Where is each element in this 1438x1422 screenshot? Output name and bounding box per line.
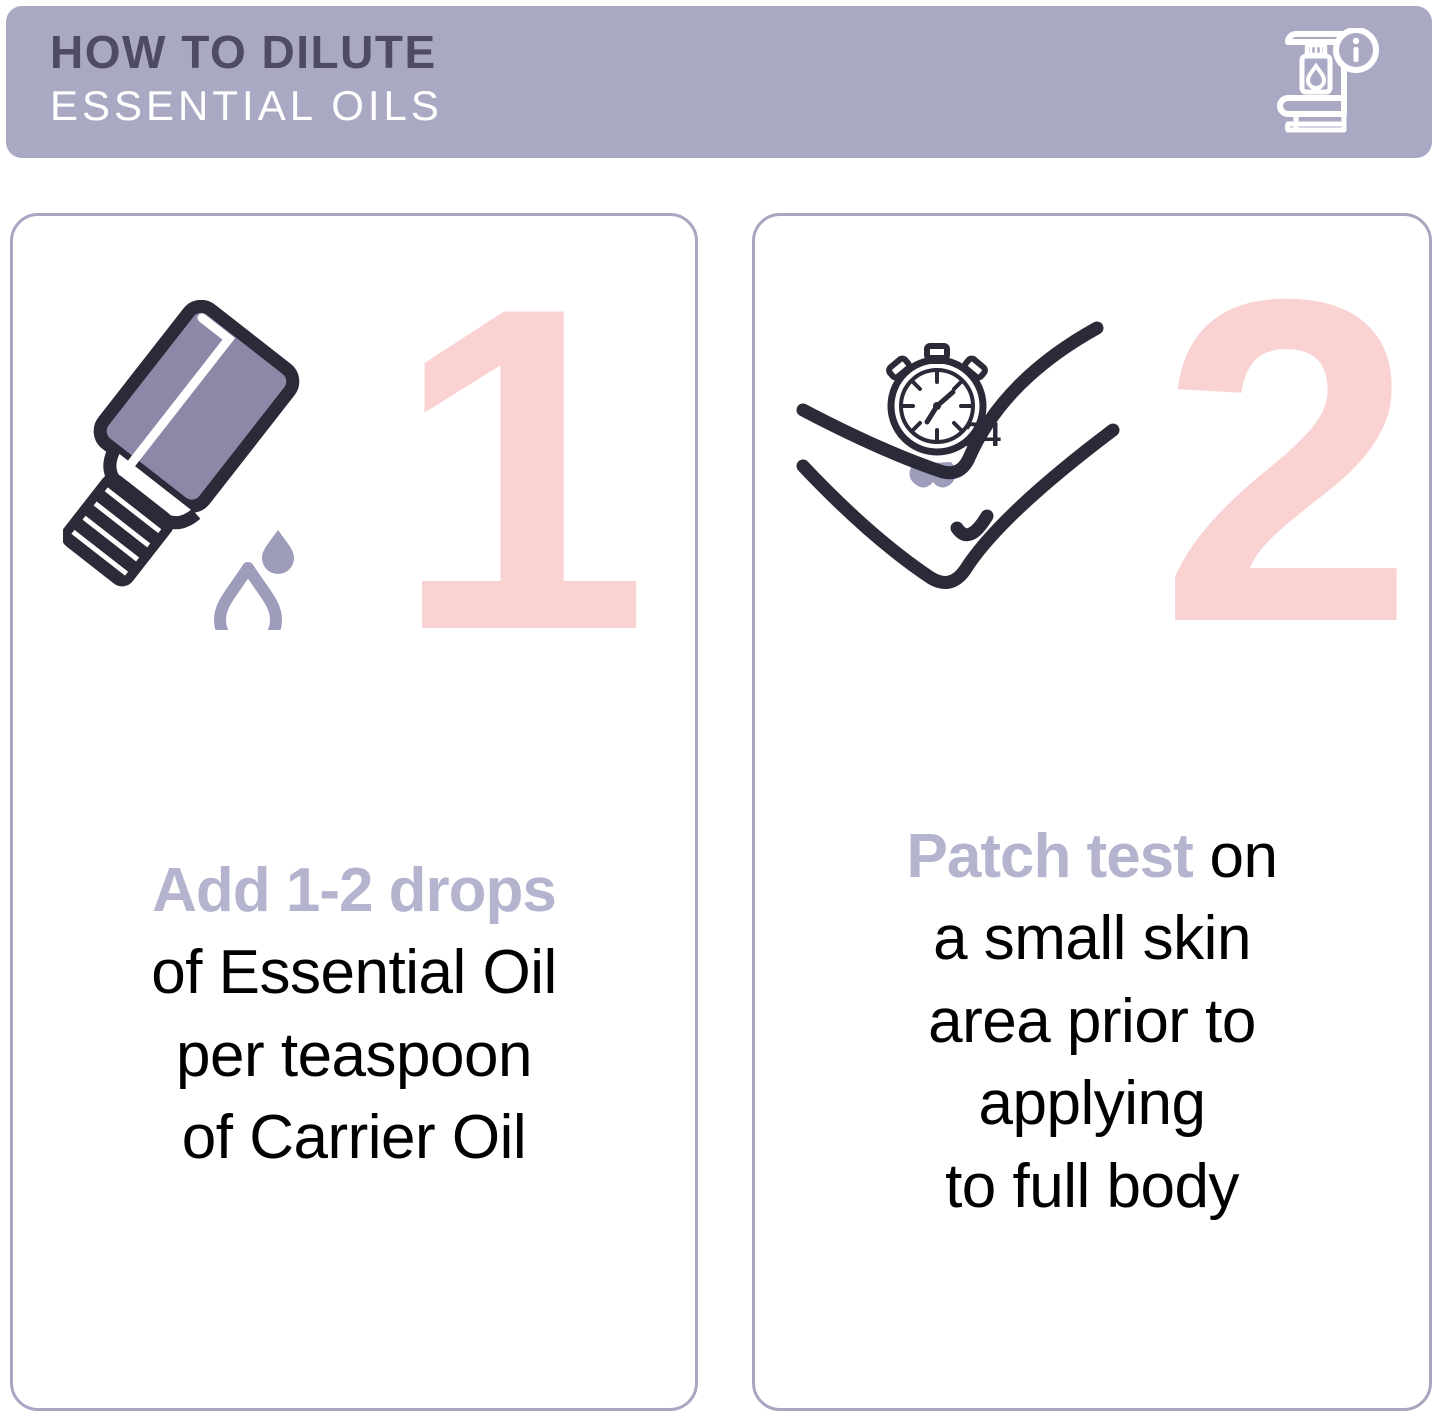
oil-bottle-dripping-icon	[63, 300, 353, 630]
infographic-page: { "header": { "title_line1": "HOW TO DIL…	[0, 0, 1438, 1422]
stopwatch-hours-label: 24	[963, 416, 1001, 454]
arm-patch-test-stopwatch-icon: 24	[785, 306, 1125, 596]
step-number-1: 1	[393, 240, 643, 700]
header-title-group: HOW TO DILUTE ESSENTIAL OILS	[50, 26, 443, 131]
step-1-caption-highlight: Add 1-2 drops	[27, 850, 681, 932]
step-card-1: 1	[10, 213, 698, 1411]
page-subtitle: ESSENTIAL OILS	[50, 81, 443, 131]
step-2-caption-line-3: applying	[769, 1063, 1415, 1145]
step-2-caption: Patch test on a small skin area prior to…	[769, 816, 1415, 1228]
steps-container: 1	[0, 213, 1438, 1413]
step-2-caption-line-1: a small skin	[769, 898, 1415, 980]
header-banner: HOW TO DILUTE ESSENTIAL OILS	[6, 6, 1432, 158]
step-card-2: 2	[752, 213, 1432, 1411]
step-1-art: 1	[13, 216, 695, 836]
step-2-caption-highlight: Patch test on	[769, 816, 1415, 898]
step-2-highlight-suffix: on	[1193, 822, 1278, 891]
step-2-caption-line-2: area prior to	[769, 981, 1415, 1063]
step-2-art: 2	[755, 216, 1429, 836]
page-title: HOW TO DILUTE	[50, 26, 443, 79]
oil-bottle-manual-info-icon	[1274, 28, 1384, 140]
step-number-2: 2	[1159, 232, 1409, 692]
step-1-caption-line-1: of Essential Oil	[27, 932, 681, 1014]
step-1-caption: Add 1-2 drops of Essential Oil per teasp…	[27, 850, 681, 1180]
step-1-caption-line-2: per teaspoon	[27, 1015, 681, 1097]
step-2-highlight-text: Patch test	[906, 822, 1192, 891]
step-1-caption-line-3: of Carrier Oil	[27, 1097, 681, 1179]
step-2-caption-line-4: to full body	[769, 1146, 1415, 1228]
